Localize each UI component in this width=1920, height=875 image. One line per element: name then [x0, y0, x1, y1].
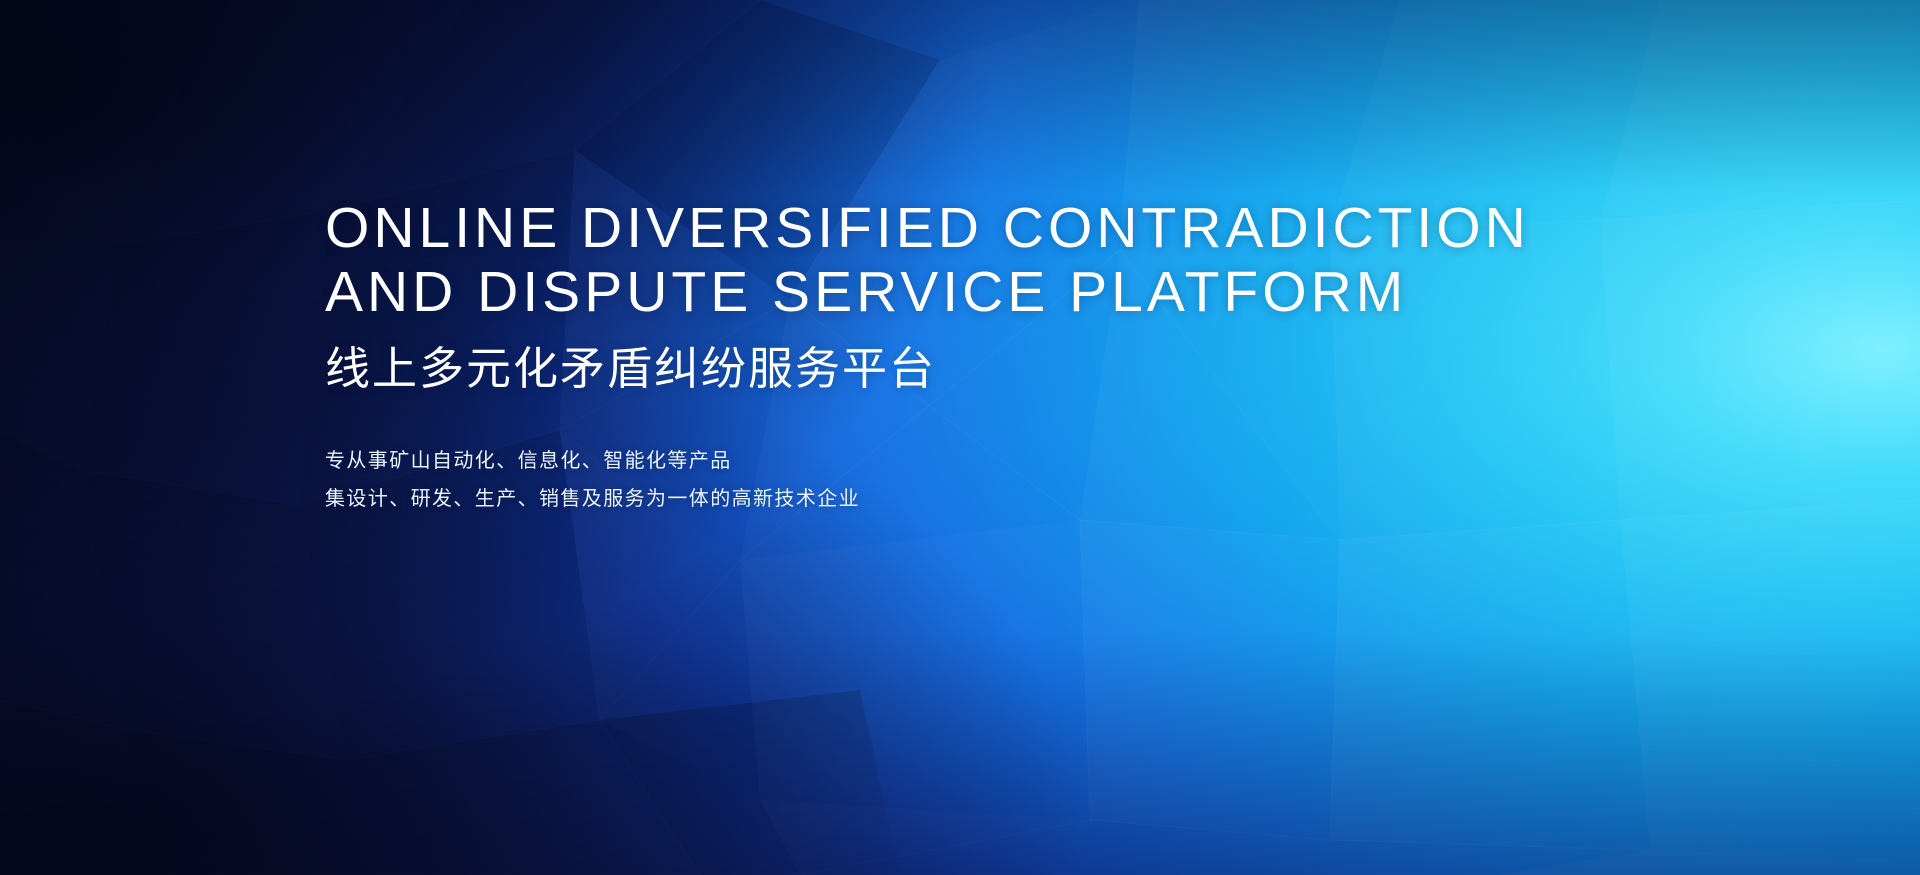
hero-title-line-1: ONLINE DIVERSIFIED CONTRADICTION: [325, 196, 1645, 260]
hero-banner: ONLINE DIVERSIFIED CONTRADICTION AND DIS…: [0, 0, 1920, 875]
hero-heading-chinese: 线上多元化矛盾纠纷服务平台: [325, 341, 1645, 397]
hero-subtitle-line-1: 专从事矿山自动化、信息化、智能化等产品: [325, 442, 1645, 480]
hero-subtitle-line-2: 集设计、研发、生产、销售及服务为一体的高新技术企业: [325, 480, 1645, 518]
hero-content: ONLINE DIVERSIFIED CONTRADICTION AND DIS…: [325, 196, 1645, 518]
hero-subtitle-block: 专从事矿山自动化、信息化、智能化等产品 集设计、研发、生产、销售及服务为一体的高…: [325, 442, 1645, 518]
hero-title-line-2: AND DISPUTE SERVICE PLATFORM: [325, 260, 1645, 324]
